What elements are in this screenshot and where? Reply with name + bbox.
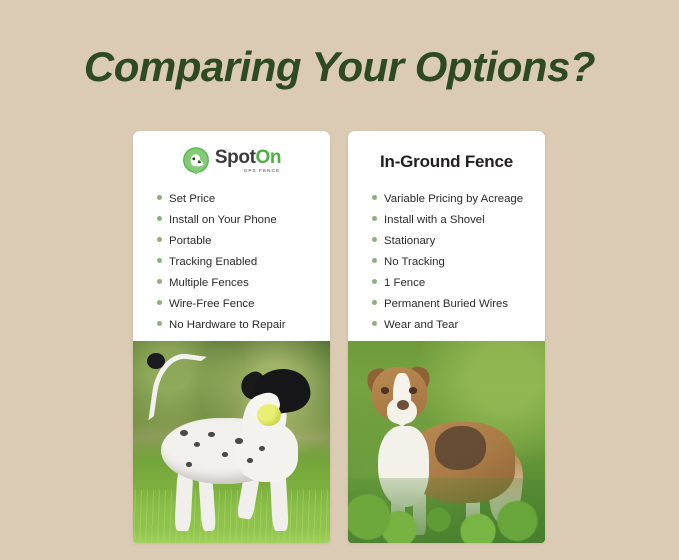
- list-item-label: Tracking Enabled: [169, 252, 257, 273]
- dog-spot: [235, 438, 242, 444]
- list-item-label: Install on Your Phone: [169, 210, 277, 231]
- list-item-label: Portable: [169, 231, 211, 252]
- bullet-icon: [157, 321, 162, 326]
- list-item: Permanent Buried Wires: [372, 294, 545, 315]
- bullet-icon: [372, 321, 377, 326]
- bullet-icon: [157, 300, 162, 305]
- list-item-label: No Hardware to Repair: [169, 315, 286, 336]
- list-item: 1 Fence: [372, 273, 545, 294]
- list-item: Install on Your Phone: [157, 210, 330, 231]
- bullet-icon: [157, 195, 162, 200]
- in-ground-fence-photo: [348, 341, 545, 543]
- list-item: Portable: [157, 231, 330, 252]
- dog-eye: [409, 387, 417, 393]
- list-item-label: Set Price: [169, 189, 215, 210]
- dog-spot: [259, 446, 265, 451]
- list-item-label: Multiple Fences: [169, 273, 249, 294]
- list-item: Wire-Free Fence: [157, 294, 330, 315]
- in-ground-fence-heading: In-Ground Fence: [348, 131, 545, 183]
- page-title: Comparing Your Options?: [0, 42, 679, 92]
- bullet-icon: [157, 279, 162, 284]
- bullet-icon: [372, 216, 377, 221]
- list-item: Set Price: [157, 189, 330, 210]
- list-item-label: No Tracking: [384, 252, 445, 273]
- bullet-icon: [372, 258, 377, 263]
- list-item-label: 1 Fence: [384, 273, 425, 294]
- foliage: [348, 478, 545, 543]
- dog-coat-marking: [435, 426, 486, 470]
- tennis-ball: [257, 404, 281, 426]
- spoton-logo-icon: [182, 147, 210, 175]
- spoton-name-part1: Spot: [215, 147, 256, 168]
- list-item: Install with a Shovel: [372, 210, 545, 231]
- spoton-tagline: GPS FENCE: [244, 169, 280, 174]
- dog-spot: [194, 442, 200, 447]
- dog-spot: [247, 458, 253, 462]
- spoton-photo: [133, 341, 330, 543]
- list-item-label: Wire-Free Fence: [169, 294, 254, 315]
- spoton-brand: SpotOn GPS FENCE: [133, 131, 330, 183]
- in-ground-fence-feature-list: Variable Pricing by Acreage Install with…: [348, 183, 545, 336]
- list-item-label: Permanent Buried Wires: [384, 294, 508, 315]
- list-item: No Hardware to Repair: [157, 315, 330, 336]
- spoton-name-part2: On: [256, 147, 282, 168]
- dog-tail-tip: [147, 353, 165, 369]
- dog-nose: [397, 400, 409, 410]
- spoton-feature-list: Set Price Install on Your Phone Portable…: [133, 183, 330, 336]
- card-in-ground-fence: In-Ground Fence Variable Pricing by Acre…: [348, 131, 545, 543]
- bullet-icon: [157, 258, 162, 263]
- dog-spot: [180, 430, 188, 436]
- comparison-cards: SpotOn GPS FENCE Set Price Install on Yo…: [133, 131, 545, 543]
- dog-eye: [381, 387, 389, 393]
- spoton-wordmark: SpotOn GPS FENCE: [215, 148, 281, 174]
- spoton-name: SpotOn: [215, 148, 281, 167]
- card-spoton: SpotOn GPS FENCE Set Price Install on Yo…: [133, 131, 330, 543]
- list-item-label: Install with a Shovel: [384, 210, 485, 231]
- list-item: Multiple Fences: [157, 273, 330, 294]
- bullet-icon: [372, 279, 377, 284]
- bullet-icon: [157, 237, 162, 242]
- bullet-icon: [372, 195, 377, 200]
- list-item: Stationary: [372, 231, 545, 252]
- list-item: Tracking Enabled: [157, 252, 330, 273]
- dog-spot: [222, 452, 228, 456]
- bullet-icon: [372, 237, 377, 242]
- dog-spot: [208, 432, 215, 437]
- list-item: Variable Pricing by Acreage: [372, 189, 545, 210]
- list-item: Wear and Tear: [372, 315, 545, 336]
- bullet-icon: [157, 216, 162, 221]
- list-item-label: Wear and Tear: [384, 315, 458, 336]
- comparison-infographic: Comparing Your Options?: [0, 0, 679, 560]
- bullet-icon: [372, 300, 377, 305]
- lawn: [133, 490, 330, 543]
- card-in-ground-fence-body: In-Ground Fence Variable Pricing by Acre…: [348, 131, 545, 341]
- dog-spot: [186, 462, 192, 466]
- list-item-label: Variable Pricing by Acreage: [384, 189, 523, 210]
- card-spoton-body: SpotOn GPS FENCE Set Price Install on Yo…: [133, 131, 330, 341]
- list-item: No Tracking: [372, 252, 545, 273]
- list-item-label: Stationary: [384, 231, 435, 252]
